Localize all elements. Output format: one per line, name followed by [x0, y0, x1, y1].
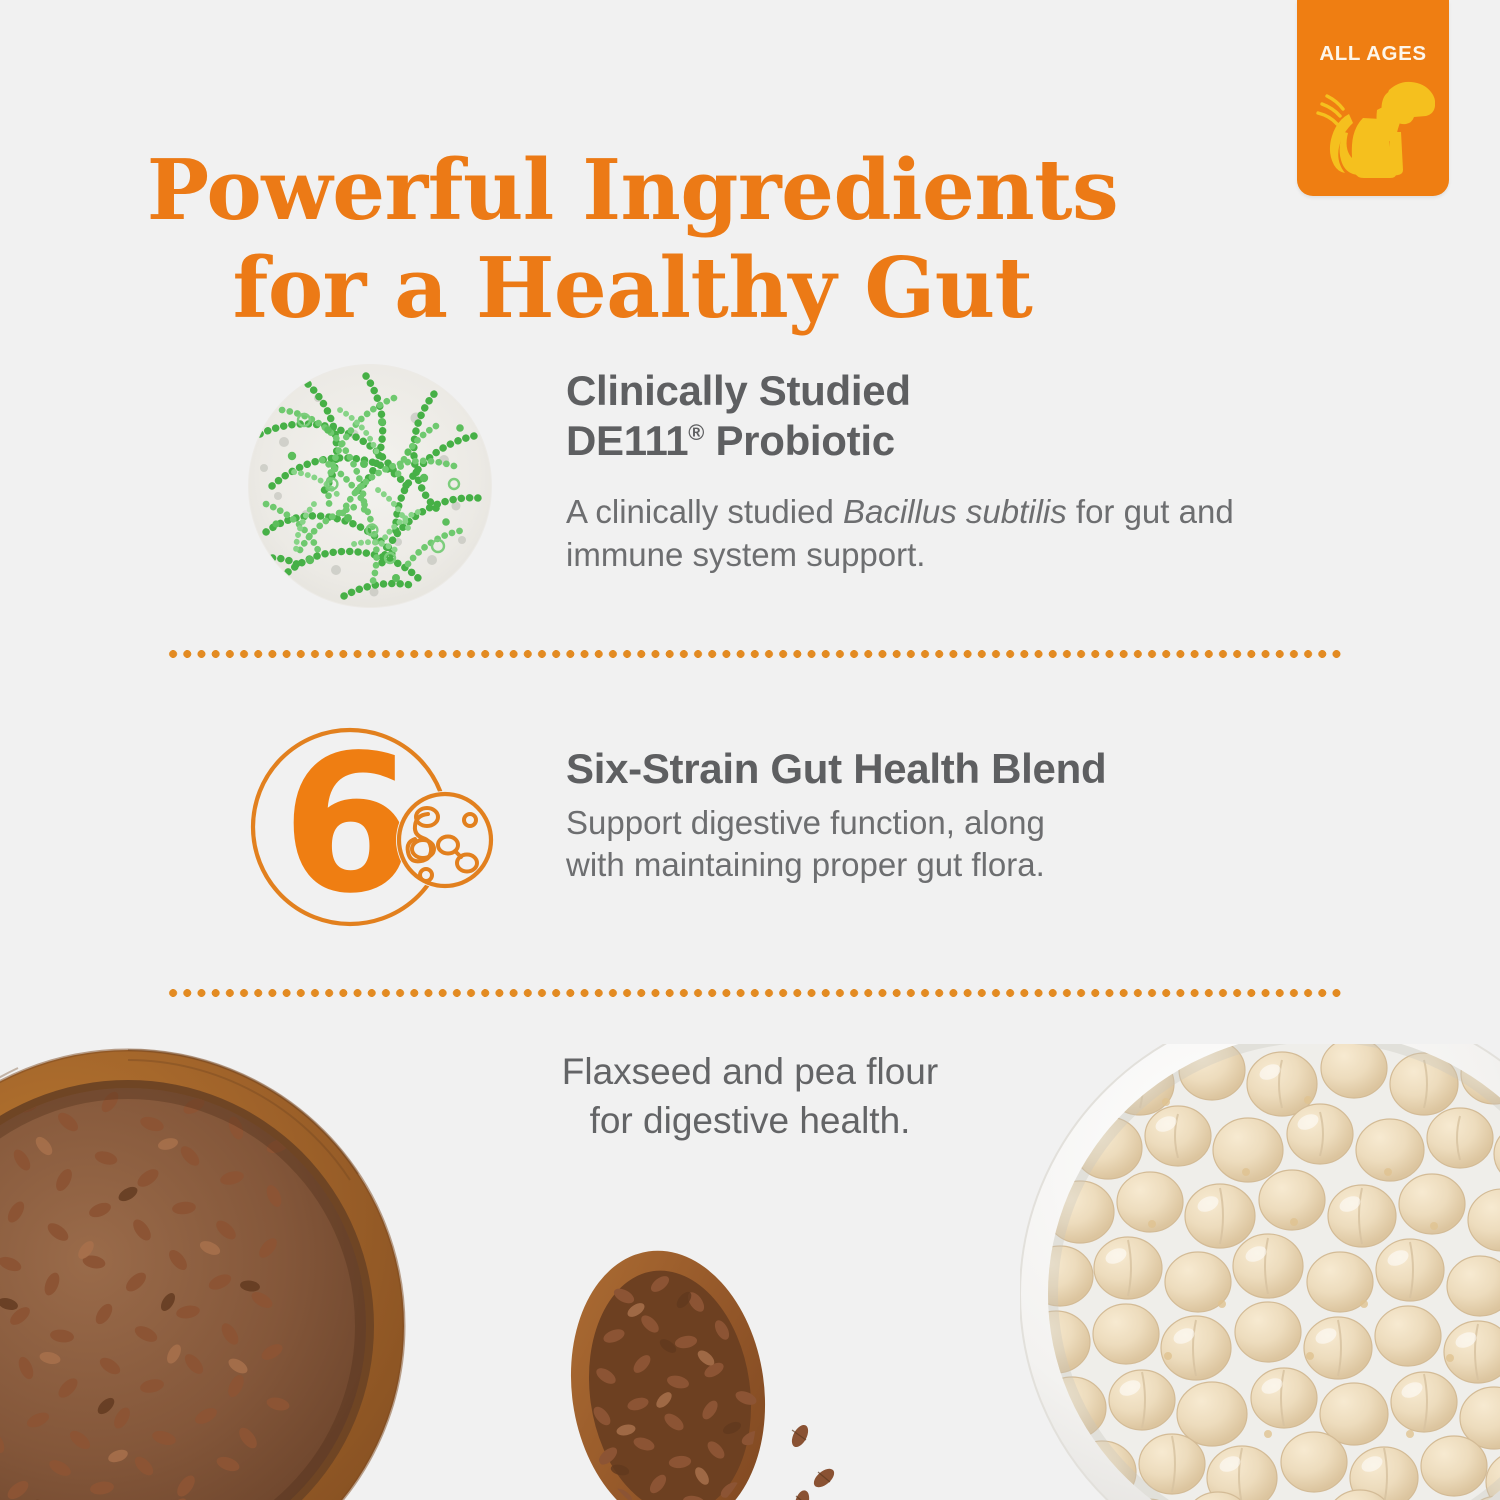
- feature-2-text: Six-Strain Gut Health Blend Support dige…: [566, 744, 1356, 887]
- flaxseed-wooden-bowl-photo: [0, 1036, 418, 1500]
- registered-mark-icon: ®: [688, 420, 704, 445]
- feature-2-desc-line-1: Support digestive function, along: [566, 804, 1045, 841]
- bacillus-subtilis-italic: Bacillus subtilis: [843, 493, 1067, 530]
- chickpeas-white-bowl-photo: [1020, 1044, 1500, 1500]
- probiotic-text: Probiotic: [704, 417, 895, 464]
- page-title-line-2: for a Healthy Gut: [0, 240, 1265, 338]
- feature-1-text: Clinically Studied DE111® Probiotic A cl…: [566, 366, 1326, 577]
- number-six-probiotic-icon: 6: [248, 722, 510, 932]
- infographic-page: ALL AGES: [0, 0, 1500, 1500]
- feature-1-title: Clinically Studied DE111® Probiotic: [566, 366, 1326, 465]
- dotted-divider-1: [166, 650, 1341, 658]
- feature-1-title-line-1: Clinically Studied: [566, 367, 911, 414]
- feature-1-title-line-2: DE111® Probiotic: [566, 416, 1326, 466]
- page-title: Powerful Ingredients for a Healthy Gut: [0, 142, 1265, 338]
- six-digit: 6: [282, 722, 414, 932]
- all-ages-badge: ALL AGES: [1297, 0, 1449, 196]
- flaxseed-wooden-spoon-photo: [556, 1240, 886, 1500]
- microscope-bacteria-photo: [248, 364, 492, 608]
- page-title-line-1: Powerful Ingredients: [0, 142, 1265, 240]
- sitting-dog-icon: [1311, 74, 1435, 186]
- feature-2-description: Support digestive function, along with m…: [566, 802, 1356, 888]
- feature-2-desc-line-2: with maintaining proper gut flora.: [566, 846, 1045, 883]
- feature-six-strain-blend: 6 Six-Strain Gut Health Blend Supp: [0, 722, 1500, 942]
- loose-flaxseeds: [789, 1422, 838, 1500]
- dotted-divider-2: [166, 989, 1341, 997]
- feature-2-title: Six-Strain Gut Health Blend: [566, 744, 1356, 794]
- all-ages-label: ALL AGES: [1297, 42, 1449, 66]
- feature-1-desc-pre: A clinically studied: [566, 493, 843, 530]
- de111-text: DE111: [566, 417, 688, 464]
- feature-clinically-studied: Clinically Studied DE111® Probiotic A cl…: [0, 360, 1500, 630]
- ingredient-photo-strip: [0, 1018, 1500, 1500]
- feature-1-description: A clinically studied Bacillus subtilis f…: [566, 491, 1326, 577]
